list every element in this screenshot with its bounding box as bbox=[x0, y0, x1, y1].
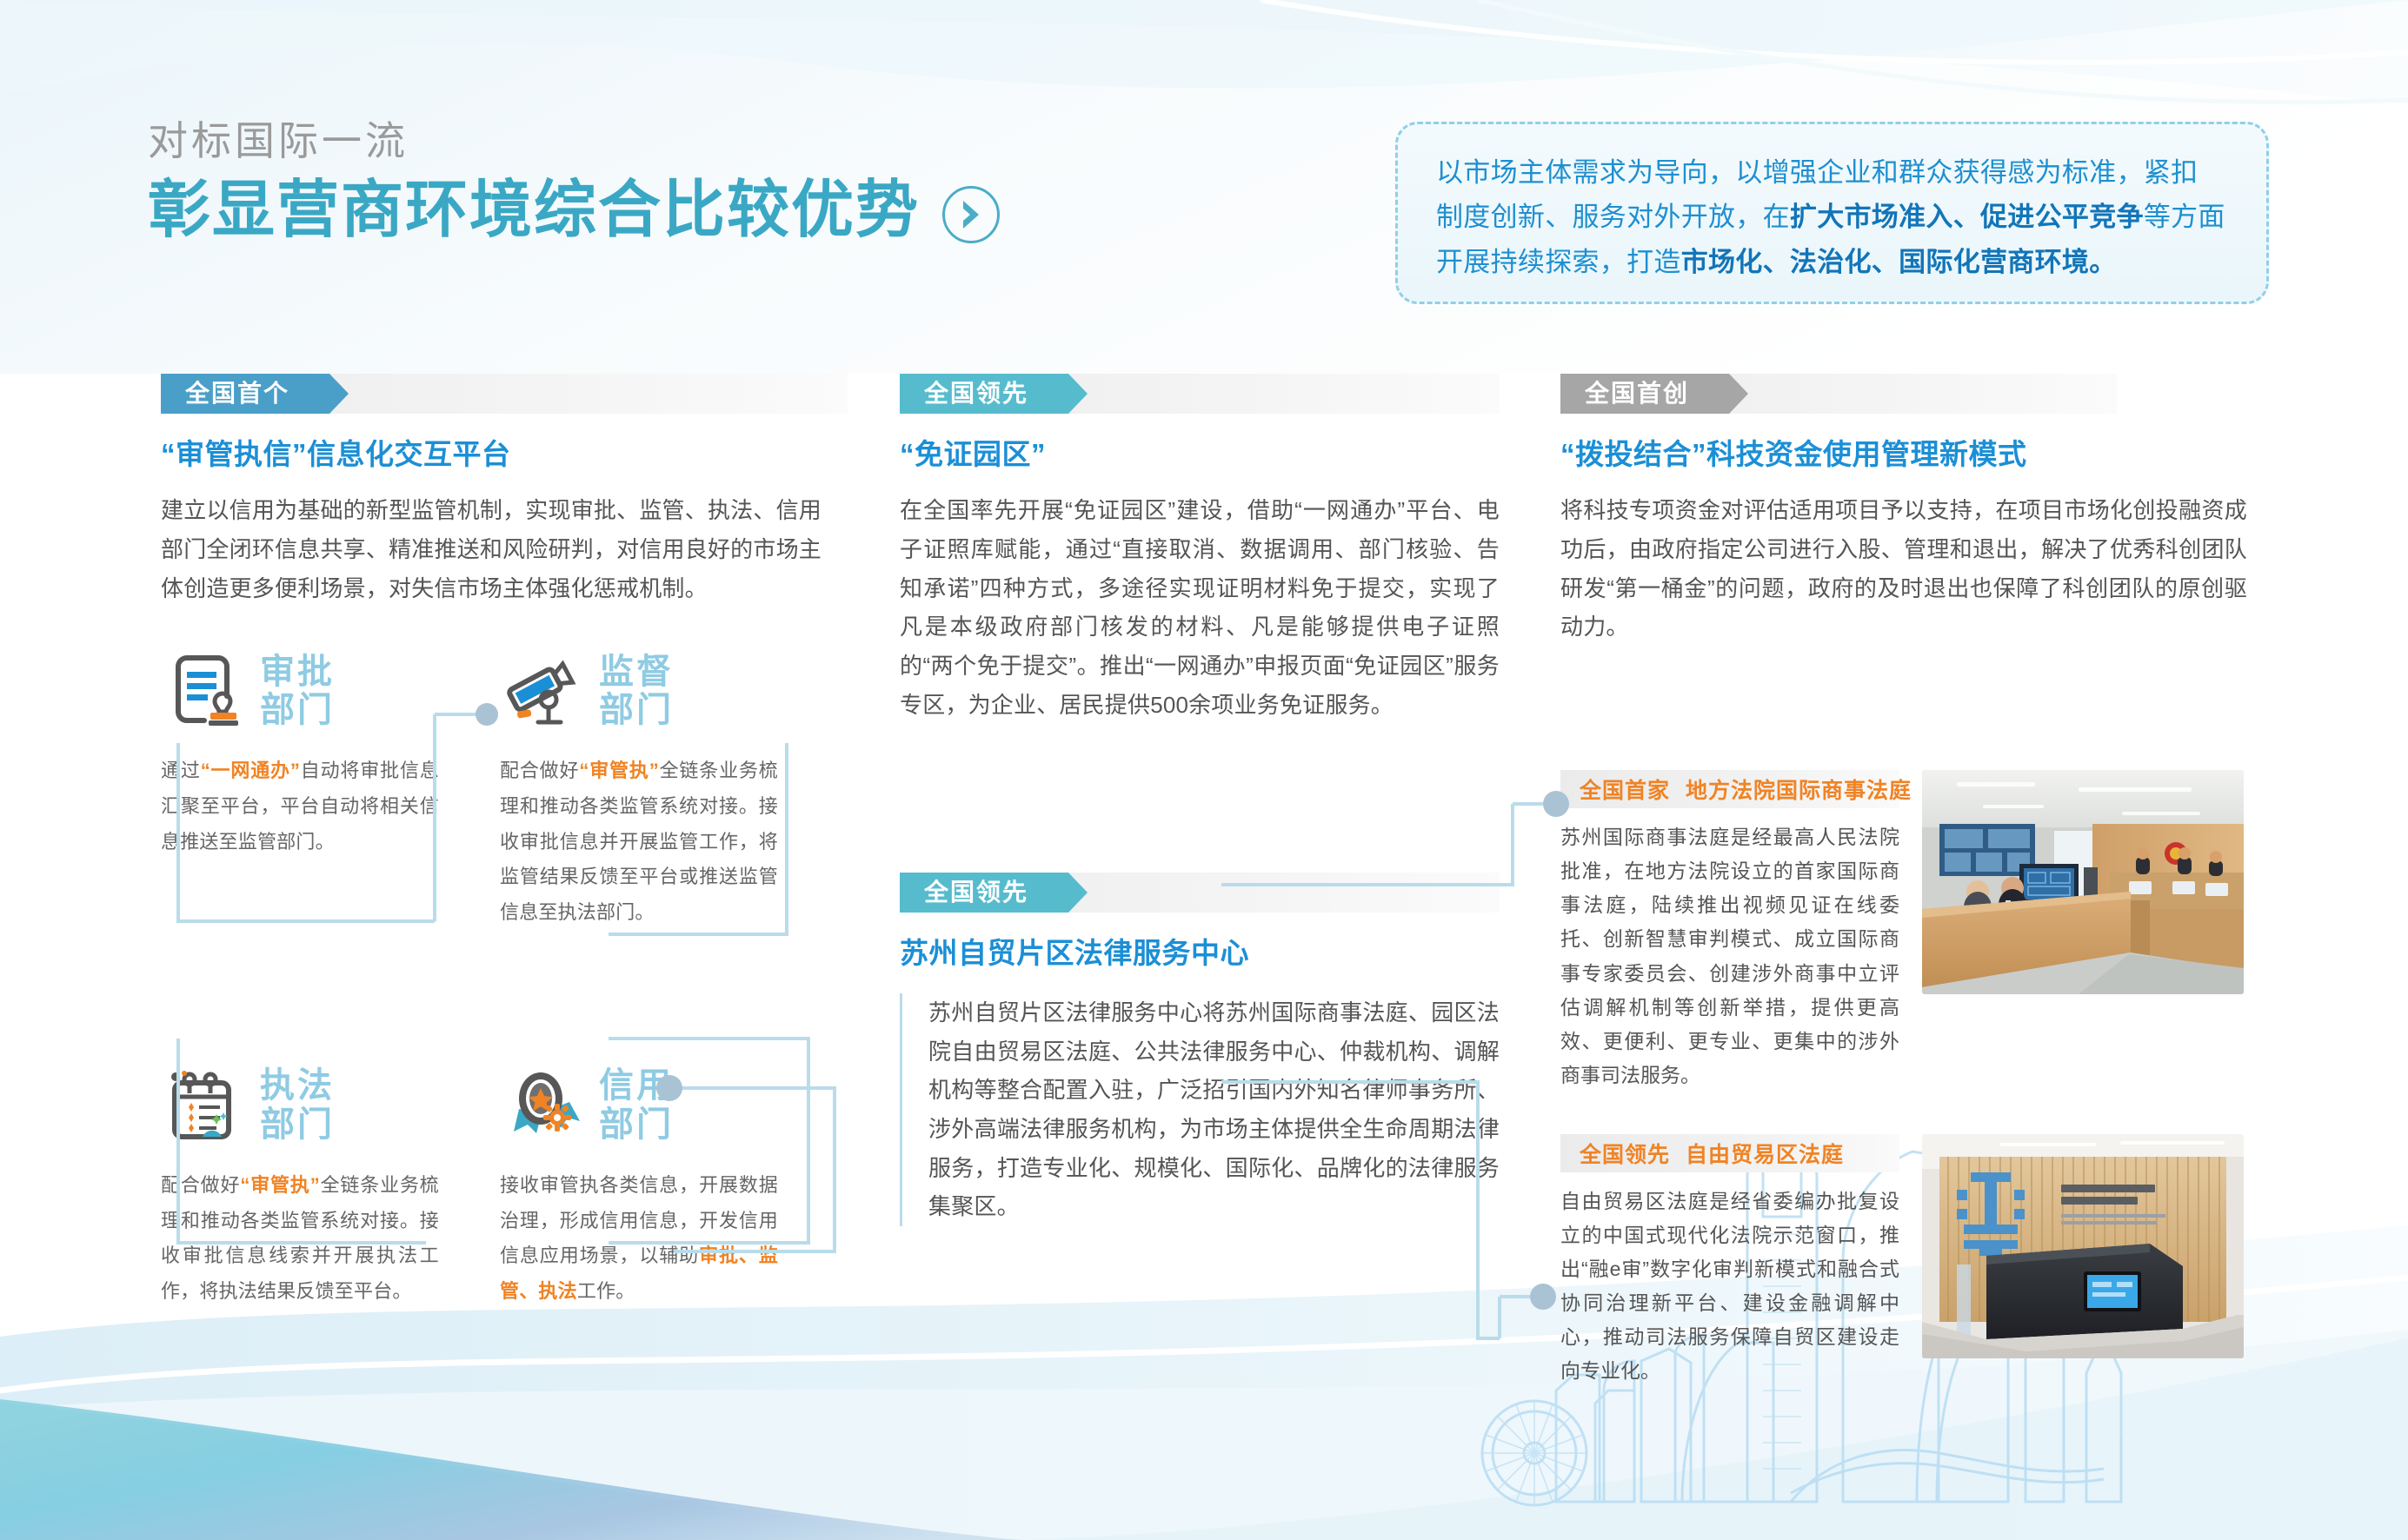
right-section1-body: 将科技专项资金对评估适用项目予以支持，在项目市场化创投融资成功后，由政府指定公司… bbox=[1560, 491, 2247, 647]
card2-tagbar: 全国领先 自由贸易区法庭 bbox=[1560, 1134, 1899, 1172]
page-title: 彰显营商环境综合比较优势 bbox=[148, 177, 920, 245]
card-free-trade-zone-tribunal: 全国领先 自由贸易区法庭 自由贸易区法庭是经省委编办批复设立的中国式现代化法院示… bbox=[1560, 1134, 2256, 1389]
card2-tag-1: 全国领先 bbox=[1580, 1138, 1670, 1169]
column-left: 全国首个 “审管执信”信息化交互平台 建立以信用为基础的新型监管机制，实现审批、… bbox=[161, 374, 848, 1310]
badge-national-pioneer: 全国首创 bbox=[1560, 374, 1729, 414]
department-credit: 信用 部门 接收审管执各类信息，开展数据治理，形成信用信息，开发信用信息应用场景… bbox=[500, 1057, 778, 1310]
callout-line-3: 开展持续探索，打造市场化、法治化、国际化营商环境。 bbox=[1436, 240, 2232, 284]
badge-track-left: 全国首个 bbox=[161, 374, 848, 414]
intro-callout: 以市场主体需求为导向，以增强企业和群众获得感为标准，紧扣 制度创新、服务对外开放… bbox=[1395, 122, 2269, 304]
department-enforcement-label: 执法 部门 bbox=[260, 1066, 335, 1145]
card2-tag-2: 自由贸易区法庭 bbox=[1686, 1138, 1844, 1169]
department-approval-label: 审批 部门 bbox=[260, 653, 335, 731]
badge-national-first: 全国首个 bbox=[161, 374, 329, 414]
chevron-right-icon[interactable] bbox=[942, 186, 1000, 243]
badge-track-mid-2: 全国领先 bbox=[900, 873, 1500, 913]
page-header: 对标国际一流 彰显营商环境综合比较优势 bbox=[148, 117, 1000, 245]
callout-text-3b: 市场化、法治化、国际化营商环境。 bbox=[1681, 247, 2117, 277]
mid-section1-body: 在全国率先开展“免证园区”建设，借助“一网通办”平台、电子证照库赋能，通过“直接… bbox=[900, 491, 1500, 724]
callout-text-2c: 等方面 bbox=[2144, 202, 2225, 232]
callout-text-2b: 扩大市场准入、促进公平竞争 bbox=[1790, 202, 2144, 232]
column-right: 全国首创 “拨投结合”科技资金使用管理新模式 将科技专项资金对评估适用项目予以支… bbox=[1560, 374, 2256, 1388]
callout-text-3a: 开展持续探索，打造 bbox=[1436, 247, 1681, 277]
department-supervision-desc: 配合做好“审管执”全链条业务梳理和推动各类监管系统对接。接收审批信息并开展监管工… bbox=[500, 753, 778, 930]
card1-tag-1: 全国首家 bbox=[1580, 773, 1670, 805]
card2-body: 自由贸易区法庭是经省委编办批复设立的中国式现代化法院示范窗口，推出“融e审”数字… bbox=[1560, 1185, 1899, 1389]
mid-section2-quote: 苏州自贸片区法律服务中心将苏州国际商事法庭、园区法院自由贸易区法庭、公共法律服务… bbox=[900, 993, 1500, 1226]
header-kicker: 对标国际一流 bbox=[148, 117, 1000, 165]
column-middle: 全国领先 “免证园区” 在全国率先开展“免证园区”建设，借助“一网通办”平台、电… bbox=[900, 374, 1500, 1226]
badge-national-leading-2: 全国领先 bbox=[900, 873, 1068, 913]
mid-section2-title: 苏州自贸片区法律服务中心 bbox=[900, 935, 1500, 971]
callout-text-1: 以市场主体需求为导向，以增强企业和群众获得感为标准，紧扣 bbox=[1436, 157, 2198, 188]
badge-track-right: 全国首创 bbox=[1560, 374, 2117, 414]
department-diagram: 审批 部门 通过“一网通办”自动将审批信息汇聚至平台，平台自动将相关信息推送至监… bbox=[161, 642, 822, 1309]
mid-section2: 全国领先 苏州自贸片区法律服务中心 苏州自贸片区法律服务中心将苏州国际商事法庭、… bbox=[900, 873, 1500, 1227]
callout-line-2: 制度创新、服务对外开放，在扩大市场准入、促进公平竞争等方面 bbox=[1436, 195, 2232, 239]
department-credit-label: 信用 部门 bbox=[599, 1066, 674, 1145]
mid-section1-title: “免证园区” bbox=[900, 436, 1500, 472]
department-enforcement: 执法 部门 配合做好“审管执”全链条业务梳理和推动各类监管系统对接。接收审批信息… bbox=[161, 1057, 439, 1310]
department-approval-desc: 通过“一网通办”自动将审批信息汇聚至平台，平台自动将相关信息推送至监管部门。 bbox=[161, 753, 439, 860]
department-approval: 审批 部门 通过“一网通办”自动将审批信息汇聚至平台，平台自动将相关信息推送至监… bbox=[161, 642, 439, 930]
department-row-top: 审批 部门 通过“一网通办”自动将审批信息汇聚至平台，平台自动将相关信息推送至监… bbox=[161, 642, 822, 930]
callout-text-2a: 制度创新、服务对外开放，在 bbox=[1436, 202, 1790, 232]
card-international-commercial-court: 全国首家 地方法院国际商事法庭 苏州国际商事法庭是经最高人民法院批准，在地方法院… bbox=[1560, 770, 2256, 1092]
right-section1-title: “拨投结合”科技资金使用管理新模式 bbox=[1560, 436, 2256, 472]
tribunal-lobby-photo bbox=[1922, 1134, 2244, 1358]
clipboard-checklist-icon bbox=[161, 1064, 244, 1147]
award-medal-gear-icon bbox=[500, 1064, 583, 1147]
department-credit-desc: 接收审管执各类信息，开展数据治理，形成信用信息，开发信用信息应用场景，以辅助审批… bbox=[500, 1168, 778, 1310]
mid-section2-body: 苏州自贸片区法律服务中心将苏州国际商事法庭、园区法院自由贸易区法庭、公共法律服务… bbox=[928, 993, 1500, 1226]
courtroom-photo bbox=[1922, 770, 2244, 994]
left-section-body: 建立以信用为基础的新型监管机制，实现审批、监管、执法、信用部门全闭环信息共享、精… bbox=[161, 491, 822, 607]
card1-tag-2: 地方法院国际商事法庭 bbox=[1686, 773, 1912, 805]
department-enforcement-desc: 配合做好“审管执”全链条业务梳理和推动各类监管系统对接。接收审批信息线索并开展执… bbox=[161, 1168, 439, 1310]
surveillance-camera-icon bbox=[500, 649, 583, 733]
department-supervision-label: 监督 部门 bbox=[599, 653, 674, 731]
card1-tagbar: 全国首家 地方法院国际商事法庭 bbox=[1560, 770, 1899, 808]
document-stamp-icon bbox=[161, 649, 244, 733]
callout-line-1: 以市场主体需求为导向，以增强企业和群众获得感为标准，紧扣 bbox=[1436, 150, 2232, 195]
badge-track-mid-1: 全国领先 bbox=[900, 374, 1500, 414]
department-supervision: 监督 部门 配合做好“审管执”全链条业务梳理和推动各类监管系统对接。接收审批信息… bbox=[500, 642, 778, 930]
badge-national-leading-1: 全国领先 bbox=[900, 374, 1068, 414]
left-section-title: “审管执信”信息化交互平台 bbox=[161, 436, 848, 472]
department-row-bottom: 执法 部门 配合做好“审管执”全链条业务梳理和推动各类监管系统对接。接收审批信息… bbox=[161, 1057, 822, 1310]
card1-body: 苏州国际商事法庭是经最高人民法院批准，在地方法院设立的首家国际商事法庭，陆续推出… bbox=[1560, 820, 1899, 1092]
